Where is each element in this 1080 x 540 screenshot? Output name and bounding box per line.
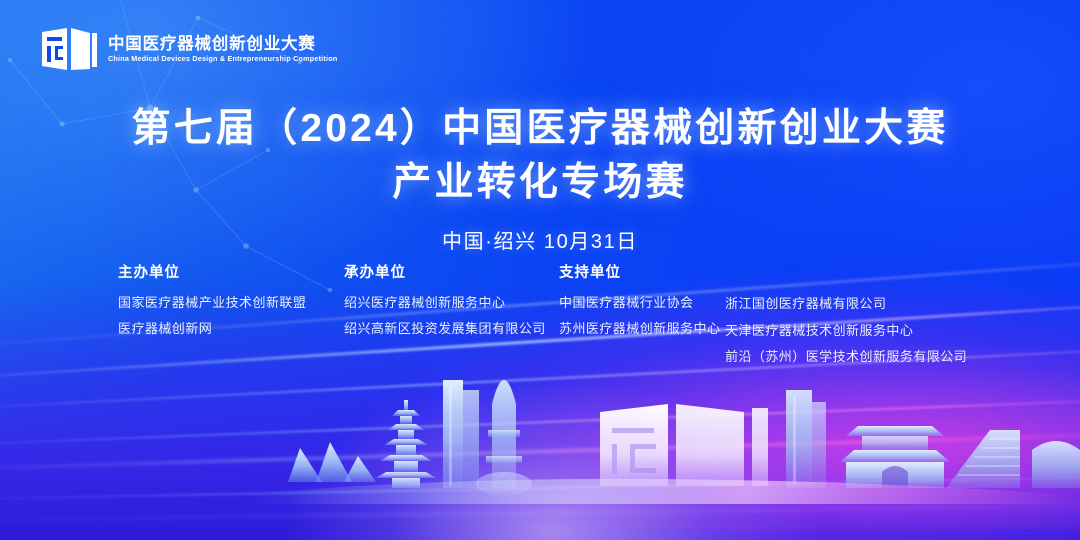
- organizer-item: 苏州医疗器械创新服务中心: [559, 316, 725, 343]
- organizer-column: 主办单位 国家医疗器械产业技术创新联盟 医疗器械创新网: [118, 266, 344, 343]
- organizer-item: 天津医疗器械技术创新服务中心: [725, 318, 985, 345]
- conference-banner: 中国医疗器械创新创业大赛 China Medical Devices Desig…: [0, 0, 1080, 540]
- logo-title-cn: 中国医疗器械创新创业大赛: [108, 36, 337, 53]
- organizer-section: 主办单位 国家医疗器械产业技术创新联盟 医疗器械创新网 承办单位 绍兴医疗器械创…: [118, 266, 985, 371]
- open-book-door-logo-icon: [40, 24, 97, 74]
- organizer-heading: 主办单位: [118, 266, 344, 281]
- organizer-column: 浙江国创医疗器械有限公司 天津医疗器械技术创新服务中心 前沿（苏州）医学技术创新…: [725, 266, 985, 371]
- organizer-item: 浙江国创医疗器械有限公司: [725, 291, 985, 318]
- organizer-column: 承办单位 绍兴医疗器械创新服务中心 绍兴高新区投资发展集团有限公司: [344, 266, 559, 343]
- organizer-item: 国家医疗器械产业技术创新联盟: [118, 290, 344, 317]
- stepped-pyramid-icon: [946, 430, 1020, 488]
- event-location-date: 中国·绍兴 10月31日: [0, 225, 1080, 254]
- background-center-glow: [281, 378, 821, 540]
- city-gate-icon: [840, 426, 950, 488]
- organizer-heading: 承办单位: [344, 266, 559, 281]
- organizer-heading: 支持单位: [559, 266, 725, 281]
- dome-arena-icon: [1032, 441, 1080, 488]
- organizer-column: 支持单位 中国医疗器械行业协会 苏州医疗器械创新服务中心: [559, 266, 725, 343]
- organizer-item: 绍兴医疗器械创新服务中心: [344, 290, 559, 317]
- organizer-item: 前沿（苏州）医学技术创新服务有限公司: [725, 344, 985, 371]
- organizer-item: 医疗器械创新网: [118, 316, 344, 343]
- brand-logo: 中国医疗器械创新创业大赛 China Medical Devices Desig…: [40, 24, 337, 74]
- organizer-item: 绍兴高新区投资发展集团有限公司: [344, 316, 559, 343]
- main-title-line-2: 产业转化专场赛: [0, 158, 1080, 208]
- main-title-line-1: 第七届（2024）中国医疗器械创新创业大赛: [0, 104, 1080, 154]
- logo-title-en: China Medical Devices Design & Entrepren…: [108, 55, 337, 62]
- organizer-item: 中国医疗器械行业协会: [559, 290, 725, 317]
- title-block: 第七届（2024）中国医疗器械创新创业大赛 产业转化专场赛 中国·绍兴 10月3…: [0, 104, 1080, 254]
